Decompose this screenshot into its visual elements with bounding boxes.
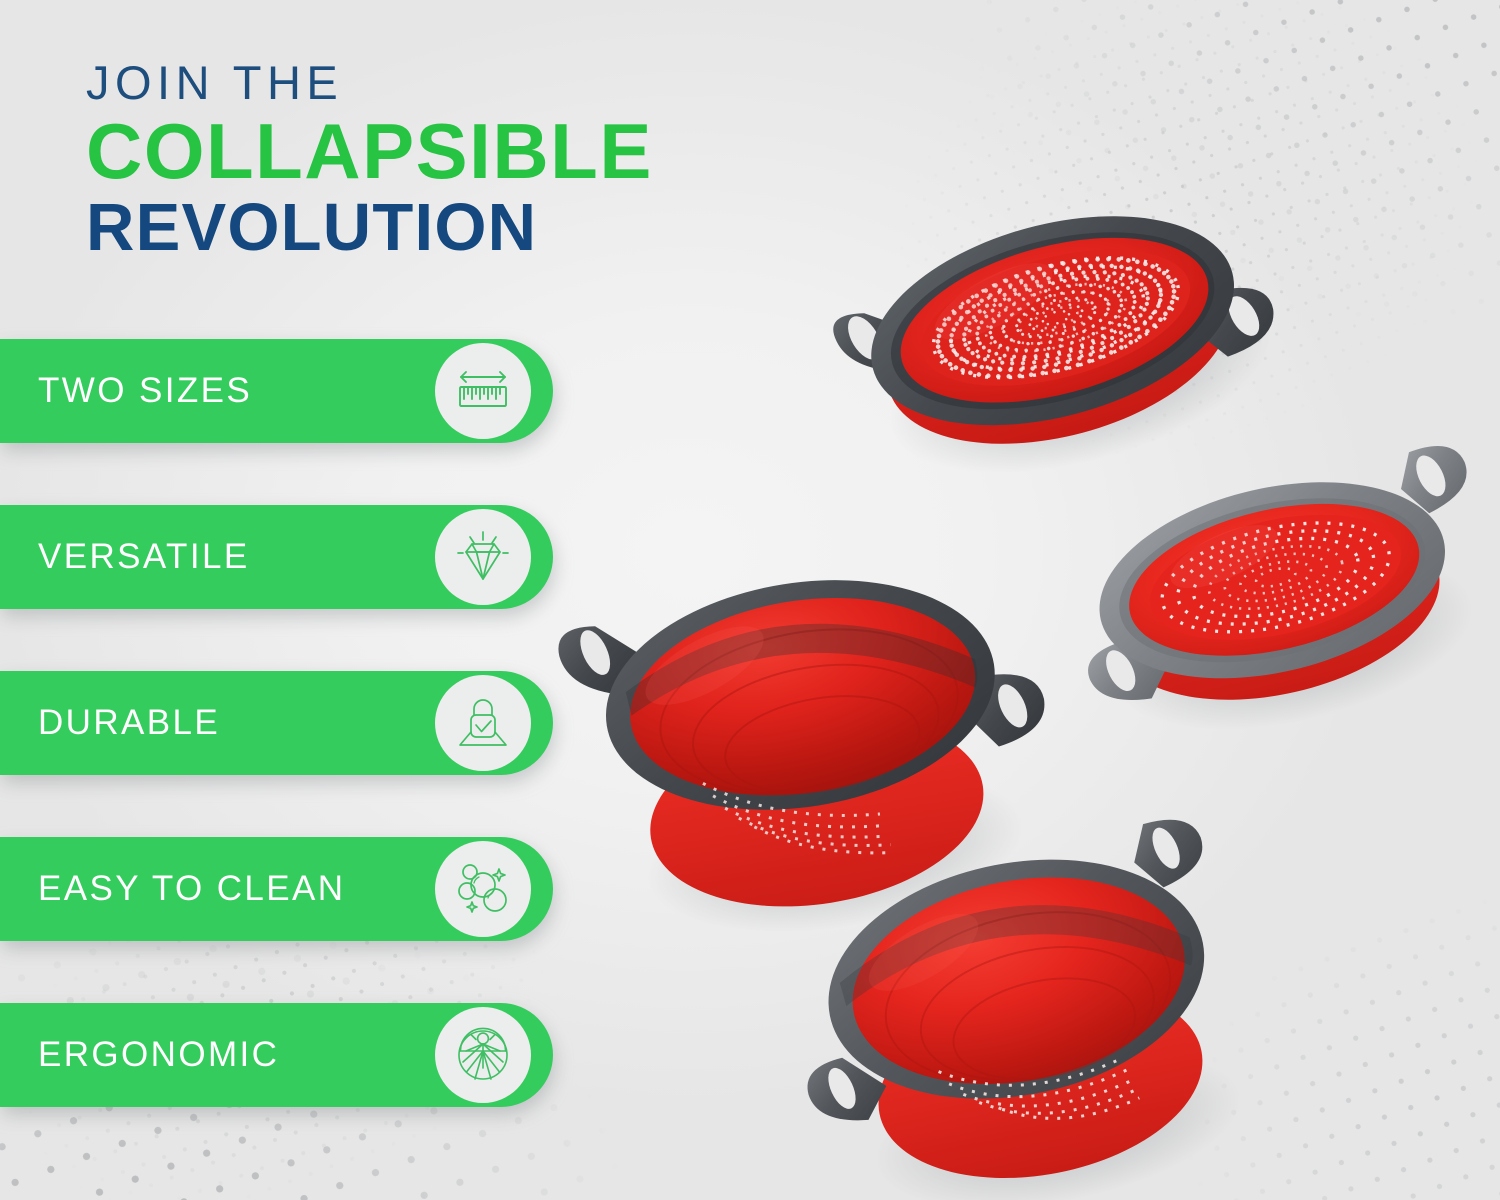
feature-pill-two-sizes[interactable]: TWO SIZES (0, 339, 553, 443)
feature-label-versatile: VERSATILE (38, 537, 435, 577)
feature-label-two-sizes: TWO SIZES (38, 371, 435, 411)
diamond-icon (435, 509, 531, 605)
bubbles-icon (435, 841, 531, 937)
infographic-canvas: JOIN THE COLLAPSIBLE REVOLUTION TWO SIZE… (0, 0, 1500, 1200)
feature-label-ergonomic: ERGONOMIC (38, 1035, 435, 1075)
feature-list: TWO SIZES VERSATILE (0, 339, 600, 1107)
vitruvian-man-icon (435, 1007, 531, 1103)
headline-line-join: JOIN THE (86, 58, 846, 108)
headline-block: JOIN THE COLLAPSIBLE REVOLUTION (86, 58, 846, 263)
headline-line-collapsible: COLLAPSIBLE (86, 112, 846, 192)
feature-label-durable: DURABLE (38, 703, 435, 743)
padlock-check-icon (435, 675, 531, 771)
feature-pill-ergonomic[interactable]: ERGONOMIC (0, 1003, 553, 1107)
ruler-icon (435, 343, 531, 439)
feature-pill-versatile[interactable]: VERSATILE (0, 505, 553, 609)
feature-pill-easy-to-clean[interactable]: EASY TO CLEAN (0, 837, 553, 941)
headline-line-revolution: REVOLUTION (86, 193, 846, 263)
feature-pill-durable[interactable]: DURABLE (0, 671, 553, 775)
feature-label-easy-to-clean: EASY TO CLEAN (38, 869, 435, 909)
